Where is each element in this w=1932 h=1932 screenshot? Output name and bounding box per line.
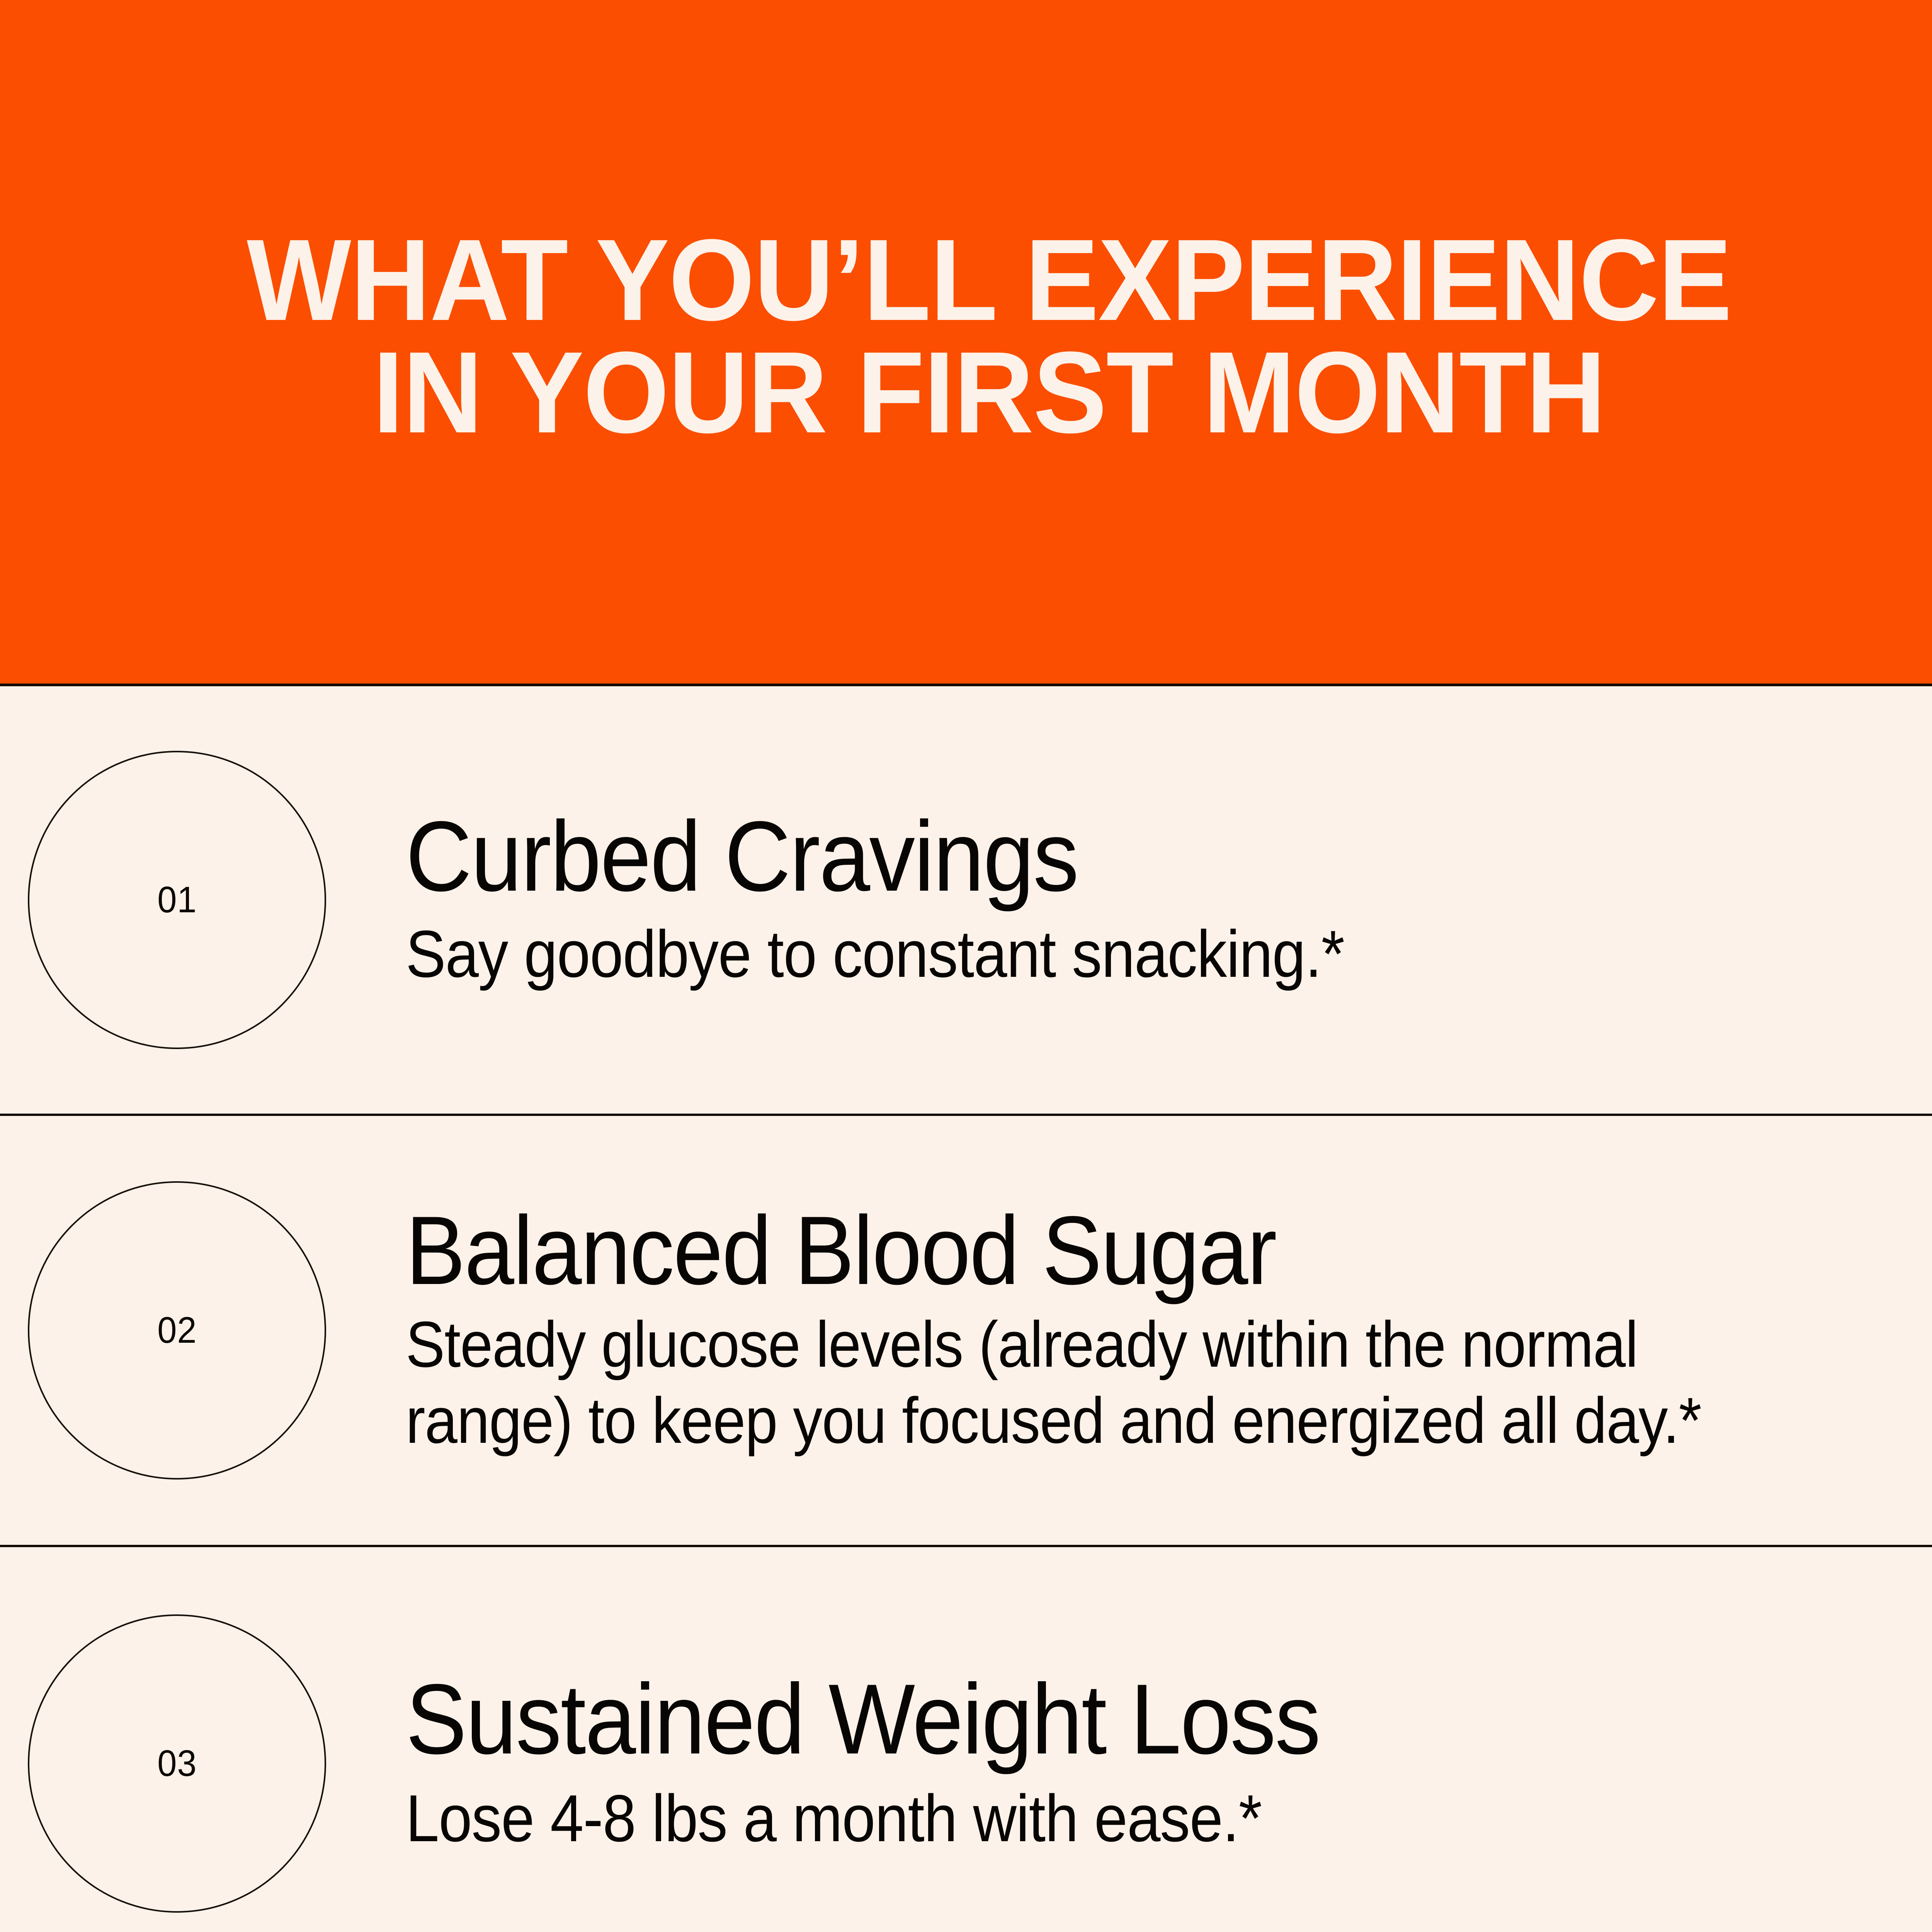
headline-line-2: IN YOUR FIRST MONTH [247, 336, 1731, 449]
page-title: WHAT YOU’LL EXPERIENCE IN YOUR FIRST MON… [247, 224, 1731, 449]
benefit-title-1: Curbed Cravings [406, 806, 1831, 906]
number-circle-3: 03 [28, 1614, 326, 1913]
headline-line-1: WHAT YOU’LL EXPERIENCE [247, 224, 1731, 336]
header-banner: WHAT YOU’LL EXPERIENCE IN YOUR FIRST MON… [0, 0, 1932, 686]
benefit-number-1: 01 [157, 879, 197, 921]
badge-wrap-3: 03 [0, 1547, 406, 1932]
badge-wrap-1: 01 [0, 686, 406, 1114]
benefit-content-1: Curbed Cravings Say goodbye to constant … [406, 686, 1932, 1114]
number-circle-2: 02 [28, 1181, 326, 1480]
number-circle-1: 01 [28, 751, 326, 1049]
benefit-title-3: Sustained Weight Loss [406, 1669, 1831, 1769]
benefit-content-3: Sustained Weight Loss Lose 4-8 lbs a mon… [406, 1547, 1932, 1932]
benefit-description-3: Lose 4-8 lbs a month with ease.* [406, 1780, 1808, 1857]
benefit-row-2: 02 Balanced Blood Sugar Steady glucose l… [0, 1116, 1932, 1547]
benefits-list: 01 Curbed Cravings Say goodbye to consta… [0, 686, 1932, 1932]
benefit-number-3: 03 [157, 1742, 197, 1785]
benefit-number-2: 02 [157, 1309, 197, 1352]
badge-wrap-2: 02 [0, 1116, 406, 1545]
benefit-description-1: Say goodbye to constant snacking.* [406, 915, 1808, 993]
benefit-description-2: Steady glucose levels (already within th… [406, 1306, 1808, 1458]
benefit-content-2: Balanced Blood Sugar Steady glucose leve… [406, 1116, 1932, 1545]
benefit-row-1: 01 Curbed Cravings Say goodbye to consta… [0, 686, 1932, 1116]
benefit-row-3: 03 Sustained Weight Loss Lose 4-8 lbs a … [0, 1547, 1932, 1932]
benefit-title-2: Balanced Blood Sugar [406, 1202, 1831, 1299]
promo-card: WHAT YOU’LL EXPERIENCE IN YOUR FIRST MON… [0, 0, 1932, 1932]
